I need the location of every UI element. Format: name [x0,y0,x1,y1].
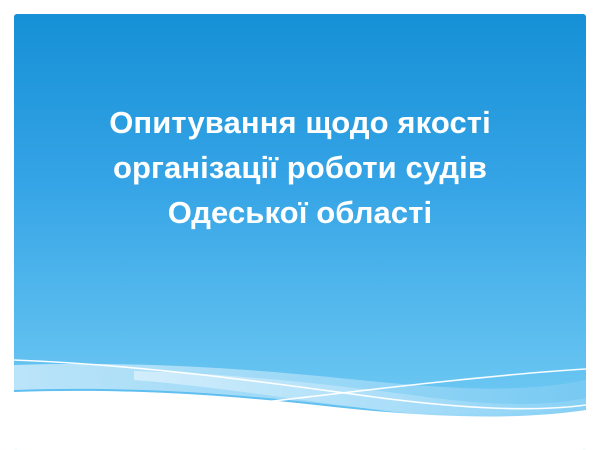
slide-title-line-2: організації роботи судів [14,145,586,190]
slide-title-line-3: Одеської області [14,190,586,235]
slide-canvas: Опитування щодо якості організації робот… [14,14,586,450]
slide-title-line-1: Опитування щодо якості [14,100,586,145]
slide-title: Опитування щодо якості організації робот… [14,100,586,235]
slide-root: Опитування щодо якості організації робот… [0,0,600,450]
